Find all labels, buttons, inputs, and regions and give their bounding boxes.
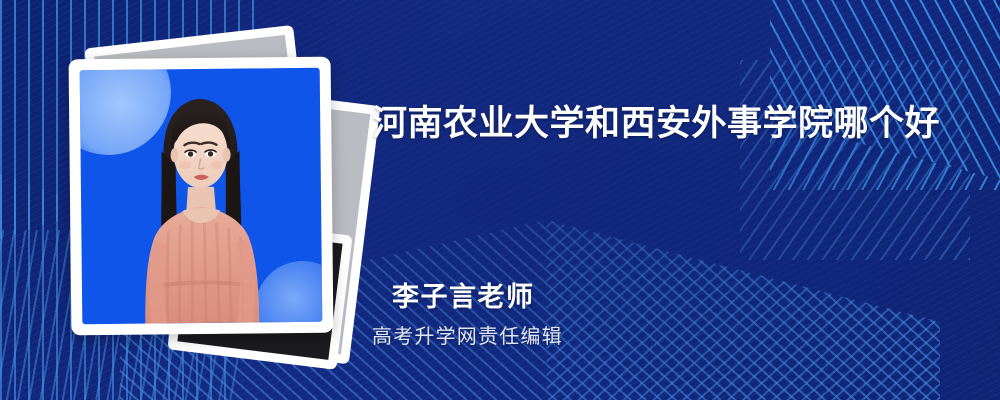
author-role: 高考升学网责任编辑: [372, 320, 563, 349]
article-hero-banner: 河南农业大学和西安外事学院哪个好 李子言老师 高考升学网责任编辑: [0, 0, 1000, 400]
banner-text-column: 河南农业大学和西安外事学院哪个好 李子言老师 高考升学网责任编辑: [372, 0, 972, 400]
photo-card-stack: [60, 40, 350, 350]
article-headline: 河南农业大学和西安外事学院哪个好: [372, 97, 942, 150]
author-name: 李子言老师: [392, 275, 535, 314]
portrait-photo: [80, 68, 323, 324]
portrait-card: [69, 57, 334, 336]
teacher-portrait-figure: [105, 90, 297, 324]
